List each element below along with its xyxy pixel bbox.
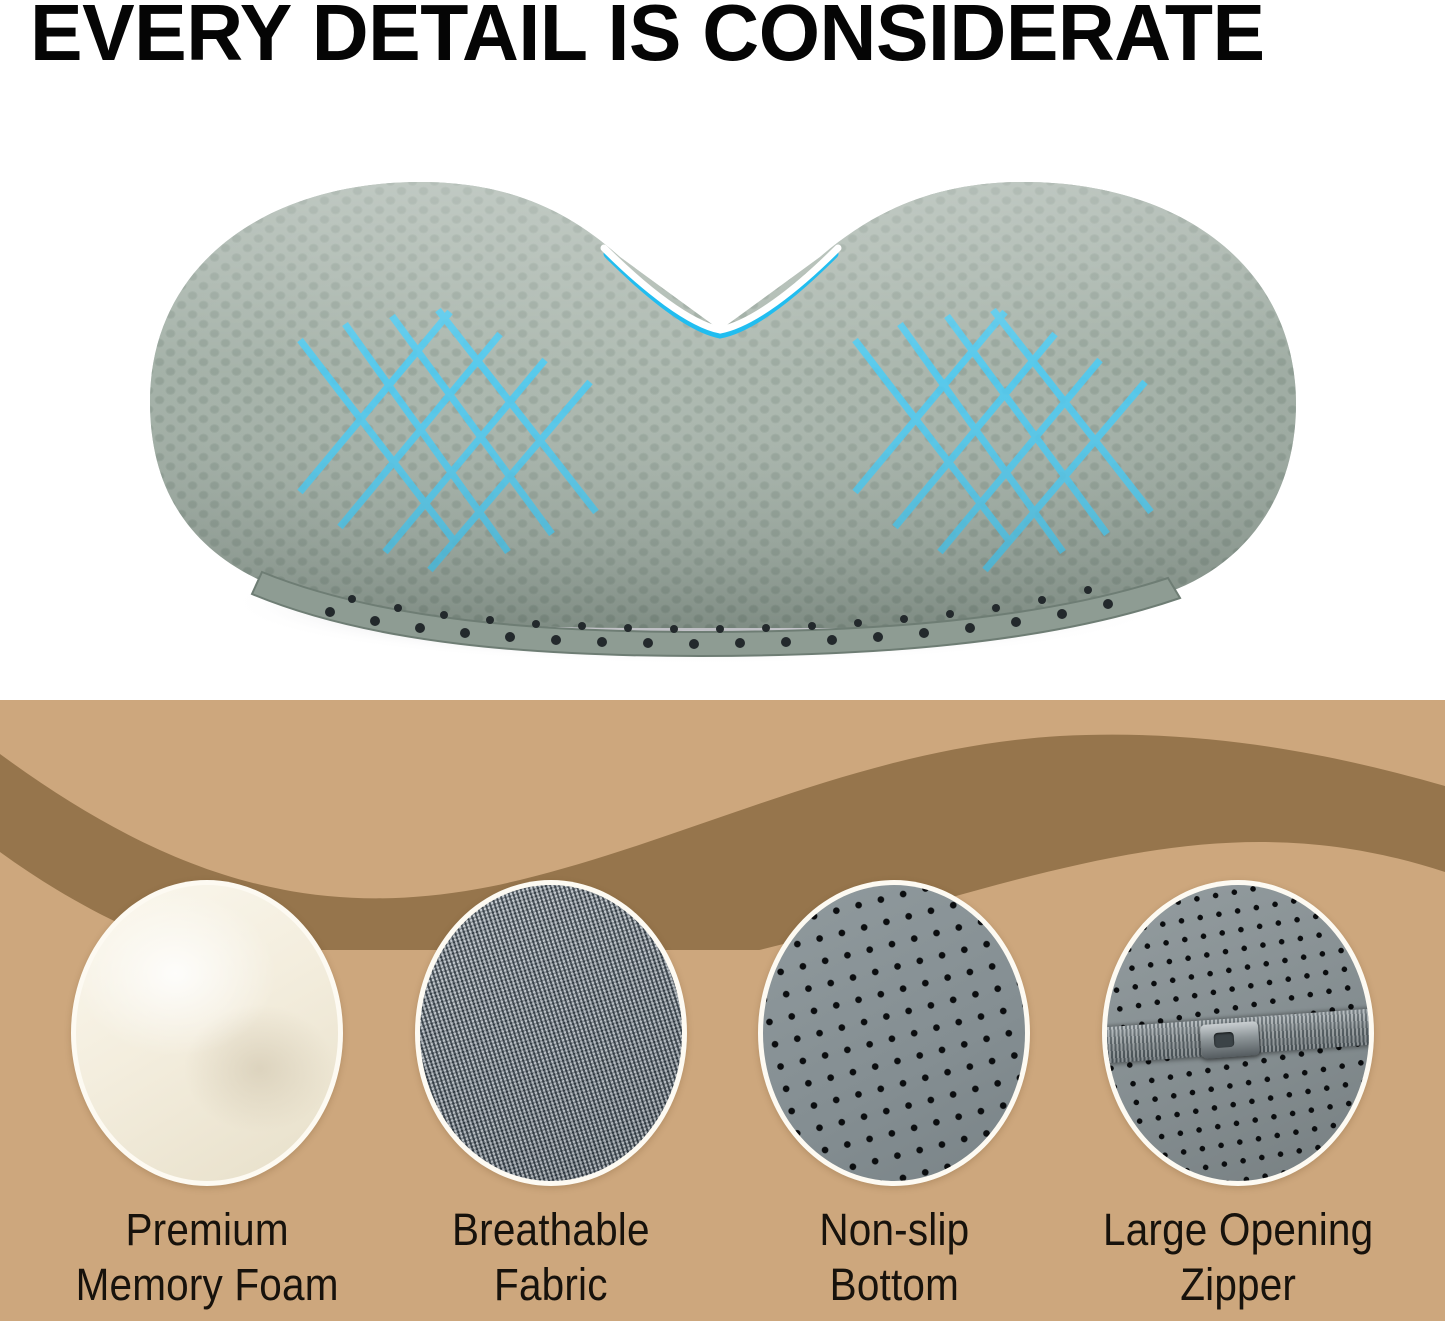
zipper-swatch-icon [1107,885,1369,1181]
memory-foam-swatch-frame [71,880,343,1186]
zipper-pull-icon [1200,1021,1260,1059]
feature-item-premium-memory-foam: Premium Memory Foam [42,880,372,1312]
breathable-fabric-swatch-frame [415,880,687,1186]
non-slip-dot-pattern [763,885,1025,1181]
feature-item-large-opening-zipper: Large Opening Zipper [1073,880,1403,1312]
hero-product-image [0,72,1445,720]
breathable-fabric-swatch-icon [420,885,682,1181]
feature-item-non-slip-bottom: Non-slip Bottom [729,880,1059,1312]
feature-label-large-opening-zipper: Large Opening Zipper [1103,1202,1373,1312]
zipper-swatch-frame [1102,880,1374,1186]
feature-item-breathable-fabric: Breathable Fabric [386,880,716,1312]
feature-label-premium-memory-foam: Premium Memory Foam [75,1202,338,1312]
non-slip-swatch-frame [758,880,1030,1186]
zipper-scene [1107,885,1369,1181]
feature-list: Premium Memory Foam Breathable Fabric No… [0,880,1445,1300]
seat-cushion-illustration [0,72,1445,720]
feature-label-non-slip-bottom: Non-slip Bottom [819,1202,969,1312]
page-title: EVERY DETAIL IS CONSIDERATE [30,0,1409,72]
product-infographic: EVERY DETAIL IS CONSIDERATE [0,0,1445,1321]
non-slip-dots-swatch-icon [763,885,1025,1181]
feature-label-breathable-fabric: Breathable Fabric [452,1202,650,1312]
memory-foam-swatch-icon [76,885,338,1181]
